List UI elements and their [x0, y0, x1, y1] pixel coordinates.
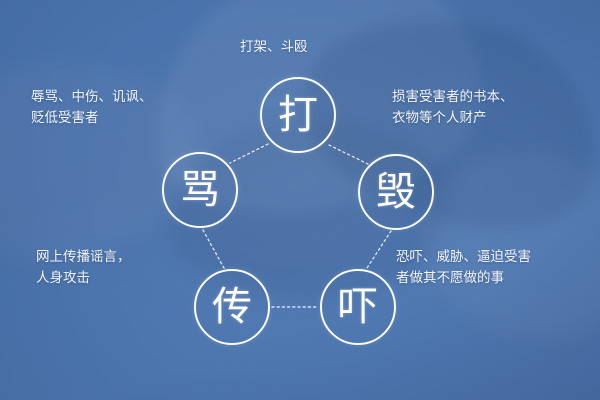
label-bottom-right-line1: 恐吓、威胁、逼迫受害 — [396, 246, 531, 267]
label-bottom-left-line1: 网上传播谣言， — [36, 246, 131, 267]
connector-lines — [0, 0, 600, 400]
connector-hui-xia — [367, 231, 391, 268]
label-top: 打架、斗殴 — [240, 36, 308, 57]
node-circle-chuan[interactable]: 传 — [194, 269, 270, 345]
node-char-chuan: 传 — [212, 287, 252, 327]
background-silhouette-e — [420, 150, 600, 340]
node-circle-ma[interactable]: 骂 — [162, 152, 238, 228]
connector-ma-chuan — [203, 230, 224, 268]
label-top-right: 损害受害者的书本、 衣物等个人财产 — [392, 86, 514, 128]
node-circle-xia[interactable]: 吓 — [320, 269, 396, 345]
label-bottom-right: 恐吓、威胁、逼迫受害 者做其不愿做的事 — [396, 246, 531, 288]
label-top-line1: 打架、斗殴 — [240, 36, 308, 57]
label-top-right-line1: 损害受害者的书本、 — [392, 86, 514, 107]
label-top-right-line2: 衣物等个人财产 — [392, 107, 514, 128]
background-vignette — [0, 0, 600, 400]
node-char-ma: 骂 — [180, 170, 220, 210]
node-char-hui: 毁 — [376, 172, 416, 212]
label-top-left-line1: 辱骂、中伤、讥讽、 — [31, 86, 153, 107]
label-top-left: 辱骂、中伤、讥讽、 贬低受害者 — [31, 86, 153, 128]
infographic-poster: 打 骂 毁 传 吓 打架、斗殴 辱骂、中伤、讥讽、 贬低受害者 损害受害者的书本… — [0, 0, 600, 400]
node-char-da: 打 — [278, 95, 318, 135]
label-bottom-right-line2: 者做其不愿做的事 — [396, 267, 531, 288]
label-top-left-line2: 贬低受害者 — [31, 107, 153, 128]
node-circle-da[interactable]: 打 — [260, 77, 336, 153]
label-bottom-left-line2: 人身攻击 — [36, 267, 131, 288]
connector-da-hui — [329, 145, 368, 164]
node-char-xia: 吓 — [338, 287, 378, 327]
node-circle-hui[interactable]: 毁 — [358, 154, 434, 230]
connector-da-ma — [230, 144, 268, 163]
label-bottom-left: 网上传播谣言， 人身攻击 — [36, 246, 131, 288]
